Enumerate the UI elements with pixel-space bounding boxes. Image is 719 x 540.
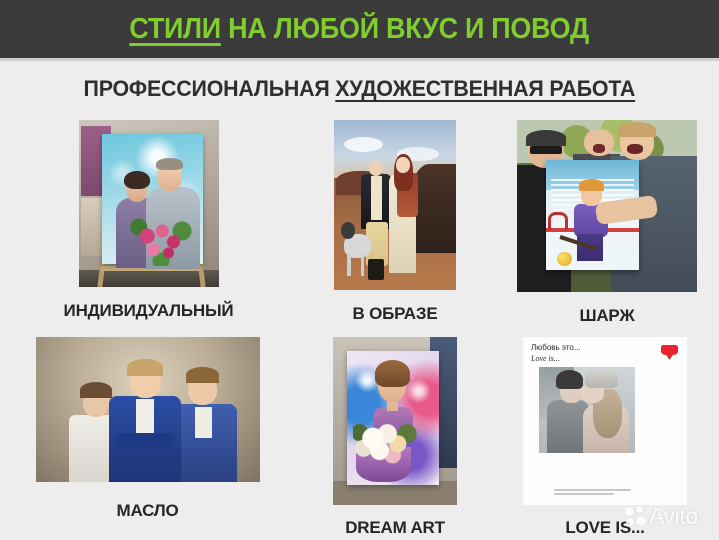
gallery-item-sharzh[interactable]: ШАРЖ (512, 120, 702, 324)
gallery-item-love-is[interactable]: Любовь это... Love is... (505, 337, 705, 536)
artwork-photo-love-is[interactable]: Любовь это... Love is... (523, 337, 687, 505)
artwork-photo-individual[interactable] (79, 120, 219, 287)
gallery-caption-sharzh: ШАРЖ (579, 307, 634, 324)
page-title: СТИЛИ НА ЛЮБОЙ ВКУС И ПОВОД (130, 15, 590, 46)
love-is-title-en: Love is... (531, 355, 679, 363)
header-banner: СТИЛИ НА ЛЮБОЙ ВКУС И ПОВОД (0, 0, 719, 61)
subheader-underlined: ХУДОЖЕСТВЕННАЯ РАБОТА (335, 76, 635, 101)
gallery-caption-dream-art: DREAM ART (345, 519, 445, 536)
page-title-rest: НА ЛЮБОЙ ВКУС И ПОВОД (221, 13, 589, 45)
gallery-caption-maslo: МАСЛО (116, 502, 178, 519)
love-is-subtitle-lines (539, 489, 635, 497)
subheader-text: ПРОФЕССИОНАЛЬНАЯ ХУДОЖЕСТВЕННАЯ РАБОТА (84, 76, 636, 102)
love-is-couple-photo (539, 367, 635, 453)
artwork-photo-dream-art[interactable] (333, 337, 457, 505)
artwork-photo-sharzh[interactable] (517, 120, 697, 292)
gallery-caption-individual: ИНДИВИДУАЛЬНЫЙ (64, 302, 234, 319)
gallery-caption-love-is: LOVE IS... (565, 519, 644, 536)
gallery-caption-v-obraze: В ОБРАЗЕ (353, 305, 438, 322)
artwork-photo-v-obraze[interactable] (334, 120, 456, 290)
artwork-photo-maslo[interactable] (36, 337, 260, 482)
gallery-item-maslo[interactable]: МАСЛО (15, 337, 280, 519)
page-title-highlight: СТИЛИ (130, 13, 222, 45)
heart-icon (661, 345, 678, 360)
gallery-item-dream-art[interactable]: DREAM ART (305, 337, 485, 536)
subheader-plain: ПРОФЕССИОНАЛЬНАЯ (84, 76, 336, 101)
subheader-bar: ПРОФЕССИОНАЛЬНАЯ ХУДОЖЕСТВЕННАЯ РАБОТА (0, 64, 719, 114)
style-gallery-grid: ИНДИВИДУАЛЬНЫЙ (0, 112, 719, 540)
gallery-item-individual[interactable]: ИНДИВИДУАЛЬНЫЙ (36, 120, 261, 319)
love-is-title-ru: Любовь это... (531, 344, 679, 352)
header-divider (0, 58, 719, 61)
gallery-item-v-obraze[interactable]: В ОБРАЗЕ (305, 120, 485, 322)
